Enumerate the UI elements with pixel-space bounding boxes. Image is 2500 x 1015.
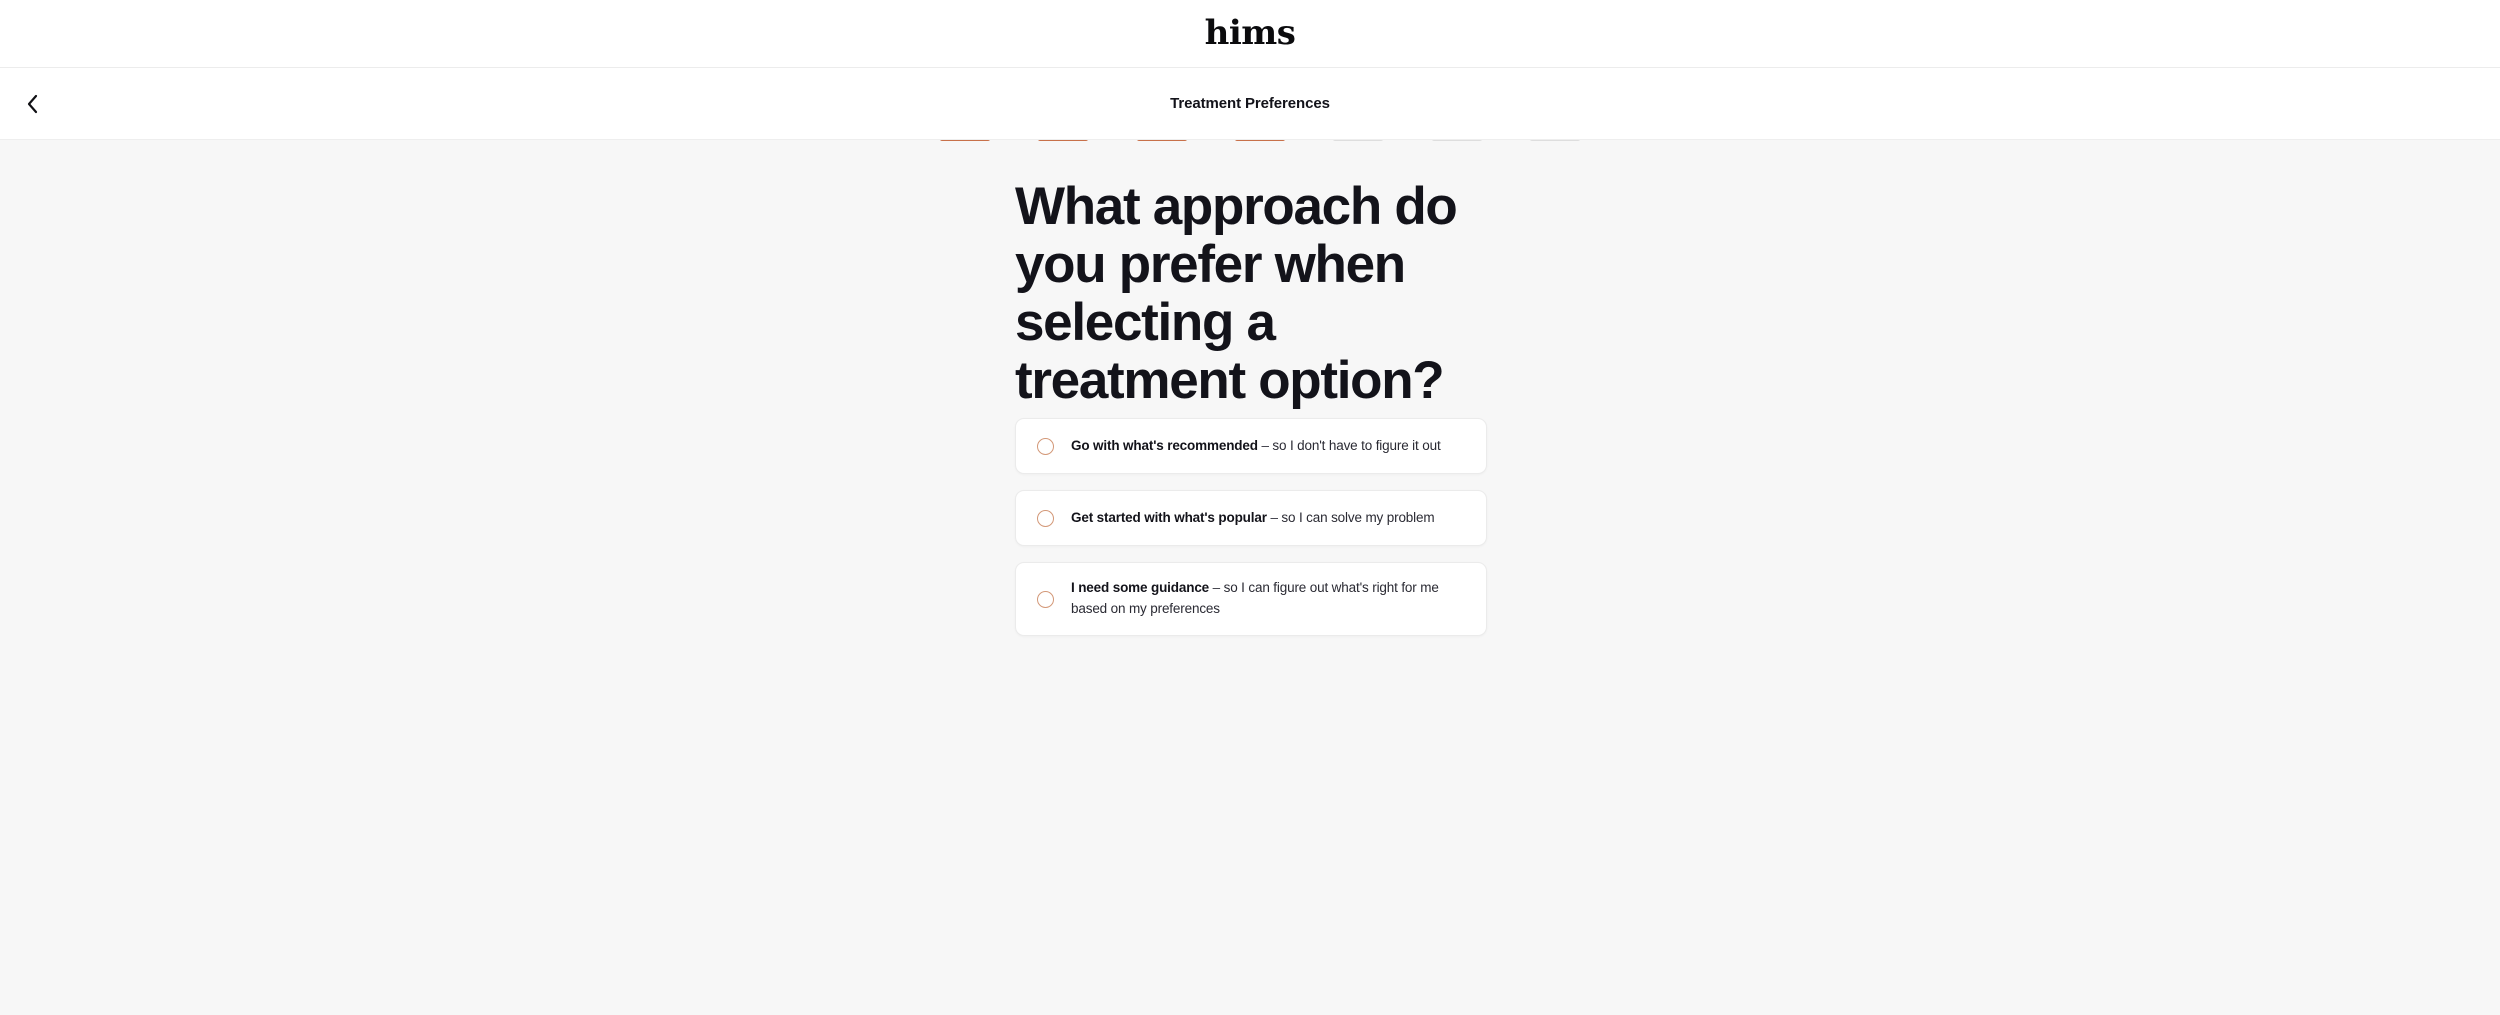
- option-label: I need some guidance – so I can figure o…: [1071, 578, 1464, 619]
- progress-step-4: [1235, 140, 1285, 141]
- progress-step-7: [1530, 140, 1580, 141]
- question-content: What approach do you prefer when selecti…: [0, 140, 2500, 1015]
- progress-step-3: [1137, 140, 1187, 141]
- step-title: Treatment Preferences: [0, 95, 2500, 112]
- progress-step-5: [1333, 140, 1383, 141]
- step-navigation-bar: Treatment Preferences: [0, 68, 2500, 140]
- hims-logo: hims: [1205, 16, 1296, 50]
- option-card[interactable]: Get started with what's popular – so I c…: [1015, 490, 1487, 546]
- progress-step-6: [1432, 140, 1482, 141]
- page-title: What approach do you prefer when selecti…: [1015, 178, 1515, 410]
- option-label: Get started with what's popular – so I c…: [1071, 508, 1434, 529]
- option-list: Go with what's recommended – so I don't …: [1015, 418, 1487, 636]
- option-label-dash: –: [1258, 438, 1273, 453]
- radio-button[interactable]: [1037, 510, 1054, 527]
- option-card[interactable]: Go with what's recommended – so I don't …: [1015, 418, 1487, 474]
- progress-step-2: [1038, 140, 1088, 141]
- radio-button[interactable]: [1037, 591, 1054, 608]
- option-label-rest: so I can solve my problem: [1281, 510, 1434, 525]
- option-label-dash: –: [1267, 510, 1282, 525]
- option-label: Go with what's recommended – so I don't …: [1071, 436, 1441, 457]
- option-label-lead: Go with what's recommended: [1071, 438, 1258, 453]
- option-label-rest: so I don't have to figure it out: [1272, 438, 1440, 453]
- progress-indicator: [940, 140, 1580, 141]
- option-label-lead: Get started with what's popular: [1071, 510, 1267, 525]
- radio-button[interactable]: [1037, 438, 1054, 455]
- option-label-lead: I need some guidance: [1071, 580, 1209, 595]
- onboarding-page: hims Treatment Preferences What approach…: [0, 0, 2500, 1015]
- progress-step-1: [940, 140, 990, 141]
- option-card[interactable]: I need some guidance – so I can figure o…: [1015, 562, 1487, 636]
- brand-header: hims: [0, 0, 2500, 68]
- option-label-dash: –: [1209, 580, 1224, 595]
